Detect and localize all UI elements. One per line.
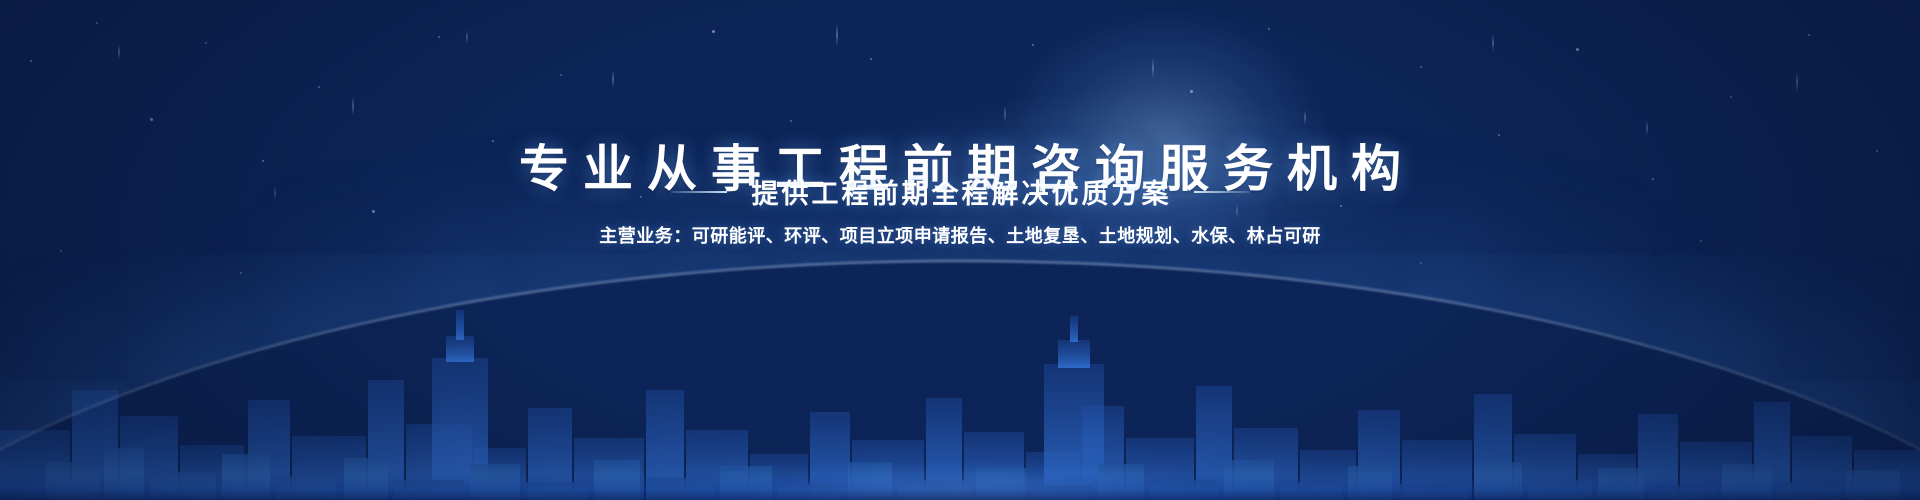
banner-content: 专业从事工程前期咨询服务机构 提供工程前期全程解决优质方案 主营业务：可研能评、… [0, 0, 1920, 500]
banner-subtitle-row: 提供工程前期全程解决优质方案 [0, 172, 1920, 211]
banner-business-line: 主营业务：可研能评、环评、项目立项申请报告、土地复垦、土地规划、水保、林占可研 [0, 222, 1920, 248]
banner-subtitle: 提供工程前期全程解决优质方案 [749, 172, 1172, 211]
hero-banner: 专业从事工程前期咨询服务机构 提供工程前期全程解决优质方案 主营业务：可研能评、… [0, 0, 1920, 500]
left-dash-icon [671, 191, 727, 193]
right-dash-icon [1194, 191, 1250, 193]
